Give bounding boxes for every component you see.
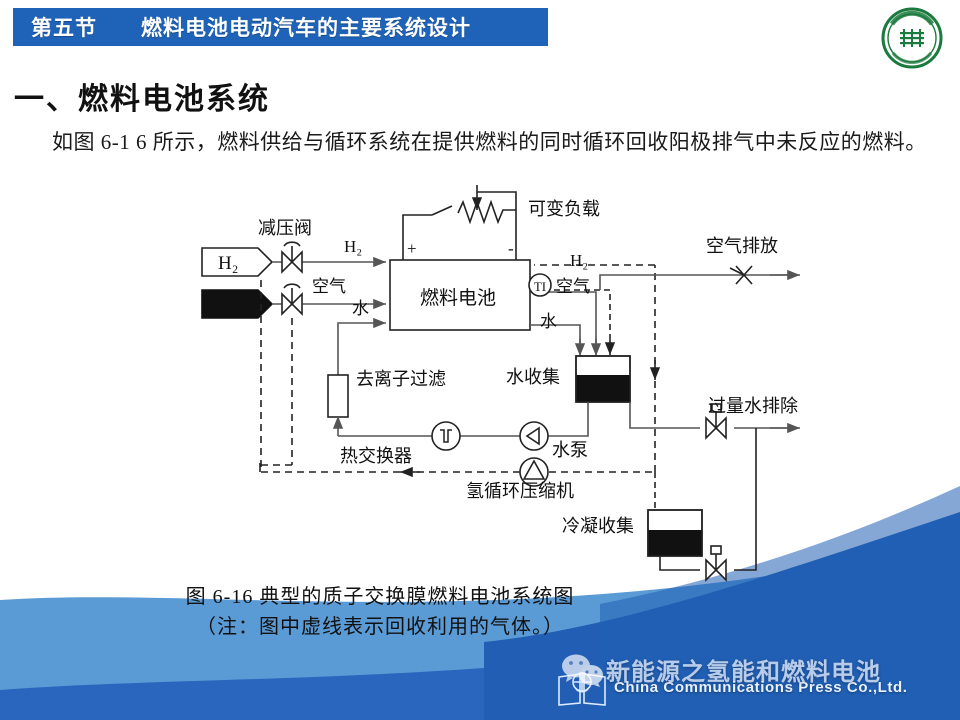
label-h2-compressor: 氢循环压缩机 [466,481,574,501]
header-title: 燃料电池电动汽车的主要系统设计 [123,12,471,42]
label-terminal-plus: + [407,239,417,258]
wechat-watermark: 新能源之氢能和燃料电池 [560,652,881,687]
label-pressure-valve: 减压阀 [258,218,312,238]
control-valve-condensate [706,546,726,580]
label-inlet-water: 水 [352,299,369,318]
water-collector [576,356,630,402]
pipe-condensate-riser [734,428,756,570]
label-instrument-ti: TI [534,279,546,294]
paragraph-text: 如图 6‑1 6 所示，燃料供给与循环系统在提供燃料的同时循环回收阳极排气中未反… [52,130,927,154]
water-pump-icon [520,422,548,450]
caption-line-1: 图 6-16 典型的质子交换膜燃料电池系统图 [0,582,760,612]
load-resistor [458,202,516,222]
pipe-condensate-out [660,556,700,570]
fuel-cell-system-diagram: H₂ 减压阀 H₂ 空气 水 燃料电池 + - 可变负载 TI H₂ 空气 水 … [0,180,960,600]
label-outlet-air: 空气 [556,277,590,296]
wechat-icon [560,653,604,687]
label-outlet-water: 水 [540,312,557,331]
condensate-collector [648,510,702,556]
load-circuit-right [477,192,516,210]
pipe-coolant-loop3 [548,402,588,436]
label-terminal-minus: - [508,239,514,258]
figure-caption: 图 6-16 典型的质子交换膜燃料电池系统图 （注：图中虚线表示回收利用的气体。… [0,582,760,642]
label-condensate: 冷凝收集 [562,516,634,536]
label-hydrogen-tank: H₂ [218,253,238,274]
body-paragraph: 如图 6‑1 6 所示，燃料供给与循环系统在提供燃料的同时循环回收阳极排气中未反… [8,126,952,159]
pipe-air-exhaust [600,275,790,290]
label-excess-water: 过量水排除 [708,396,798,416]
label-fuel-cell-stack: 燃料电池 [420,287,496,309]
deionizer-filter [328,375,348,417]
pipe-excess-water [630,402,700,428]
pressure-reducing-valve-h2 [282,242,302,272]
label-variable-load: 可变负载 [528,199,600,219]
institution-seal-icon [880,6,944,70]
load-switch-blade [432,206,452,215]
slide-header-bar: 第五节 燃料电池电动汽车的主要系统设计 [13,8,548,46]
label-water-collect: 水收集 [506,367,560,387]
pressure-reducing-valve-air [282,284,302,314]
caption-line-2: （注：图中虚线表示回收利用的气体。） [0,612,760,642]
recycle-dashed-loop [260,318,292,470]
page-title: 一、燃料电池系统 [14,74,270,118]
label-inlet-air: 空气 [312,277,346,296]
label-water-pump: 水泵 [552,440,588,460]
label-deionizer: 去离子过滤 [356,369,446,389]
label-air-exhaust: 空气排放 [706,236,778,256]
watermark-text: 新能源之氢能和燃料电池 [606,652,881,687]
heat-exchanger-icon [432,422,460,450]
label-outlet-h2: H₂ [570,251,588,270]
header-section-number: 第五节 [13,12,97,42]
label-inlet-h2: H₂ [344,237,362,256]
label-heat-exchanger: 热交换器 [340,446,412,466]
